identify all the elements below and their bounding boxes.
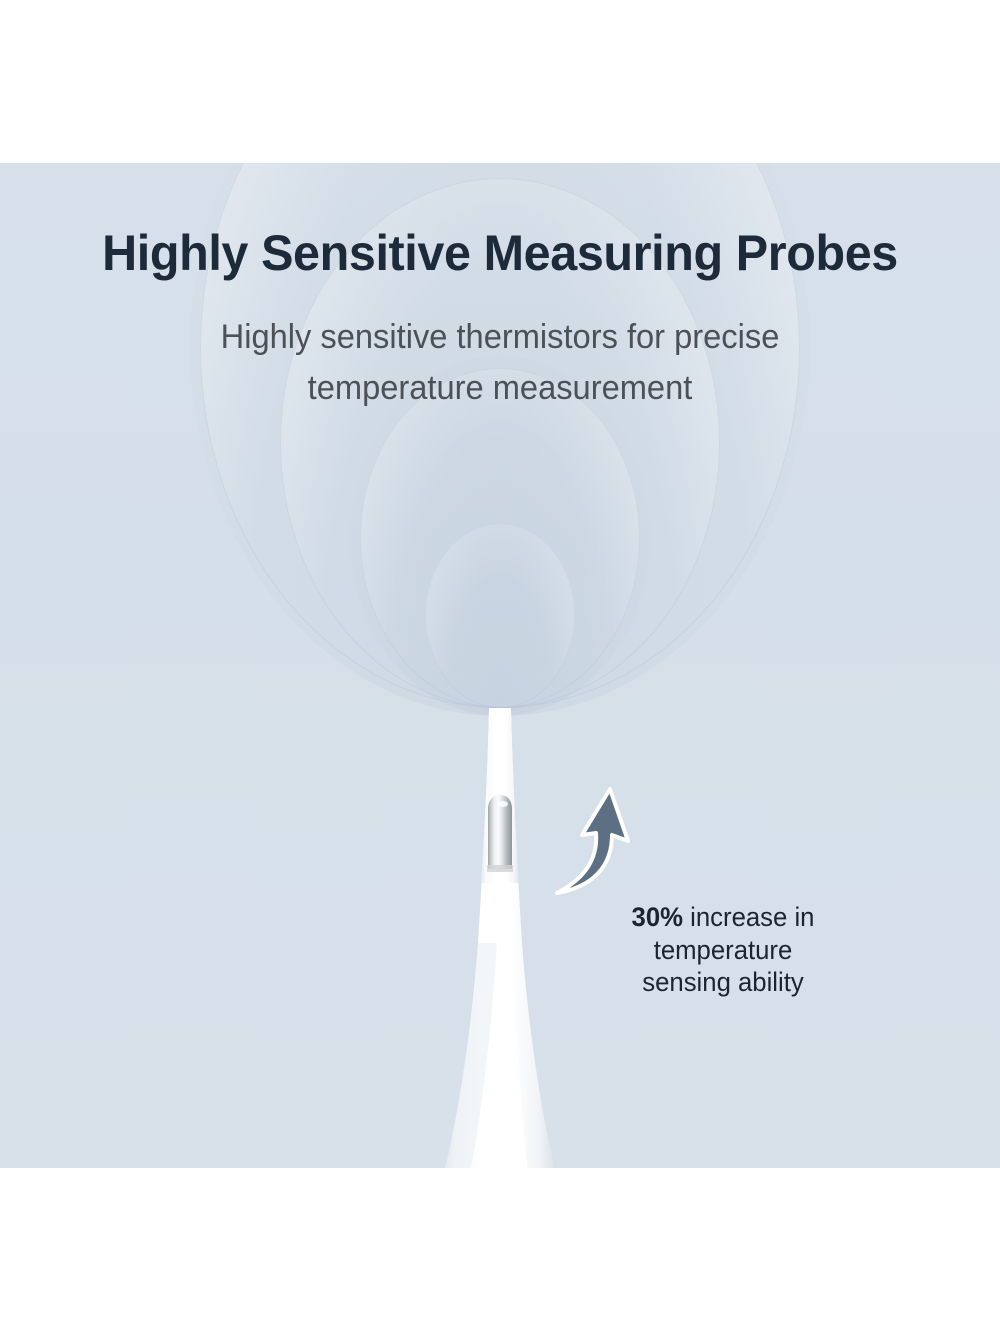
callout-highlight: 30% [632, 902, 683, 932]
probe-tip-metal [488, 795, 512, 869]
callout-line2: temperature [654, 935, 793, 965]
page-subtitle: Highly sensitive thermistors for precise… [154, 312, 845, 414]
callout-line1-rest: increase in [683, 902, 814, 932]
callout-line3: sensing ability [642, 967, 803, 997]
probe-collar [487, 865, 513, 872]
ripple-ring-4 [425, 523, 575, 708]
page-title: Highly Sensitive Measuring Probes [15, 228, 985, 278]
feature-banner: 30% increase in temperature sensing abil… [0, 0, 1000, 1333]
callout-text: 30% increase in temperature sensing abil… [582, 901, 863, 999]
body-shadow-left [444, 943, 497, 1168]
curved-up-arrow-icon [512, 767, 632, 895]
probe-tip-highlight [498, 801, 508, 807]
ripple-ring-3 [360, 368, 640, 708]
